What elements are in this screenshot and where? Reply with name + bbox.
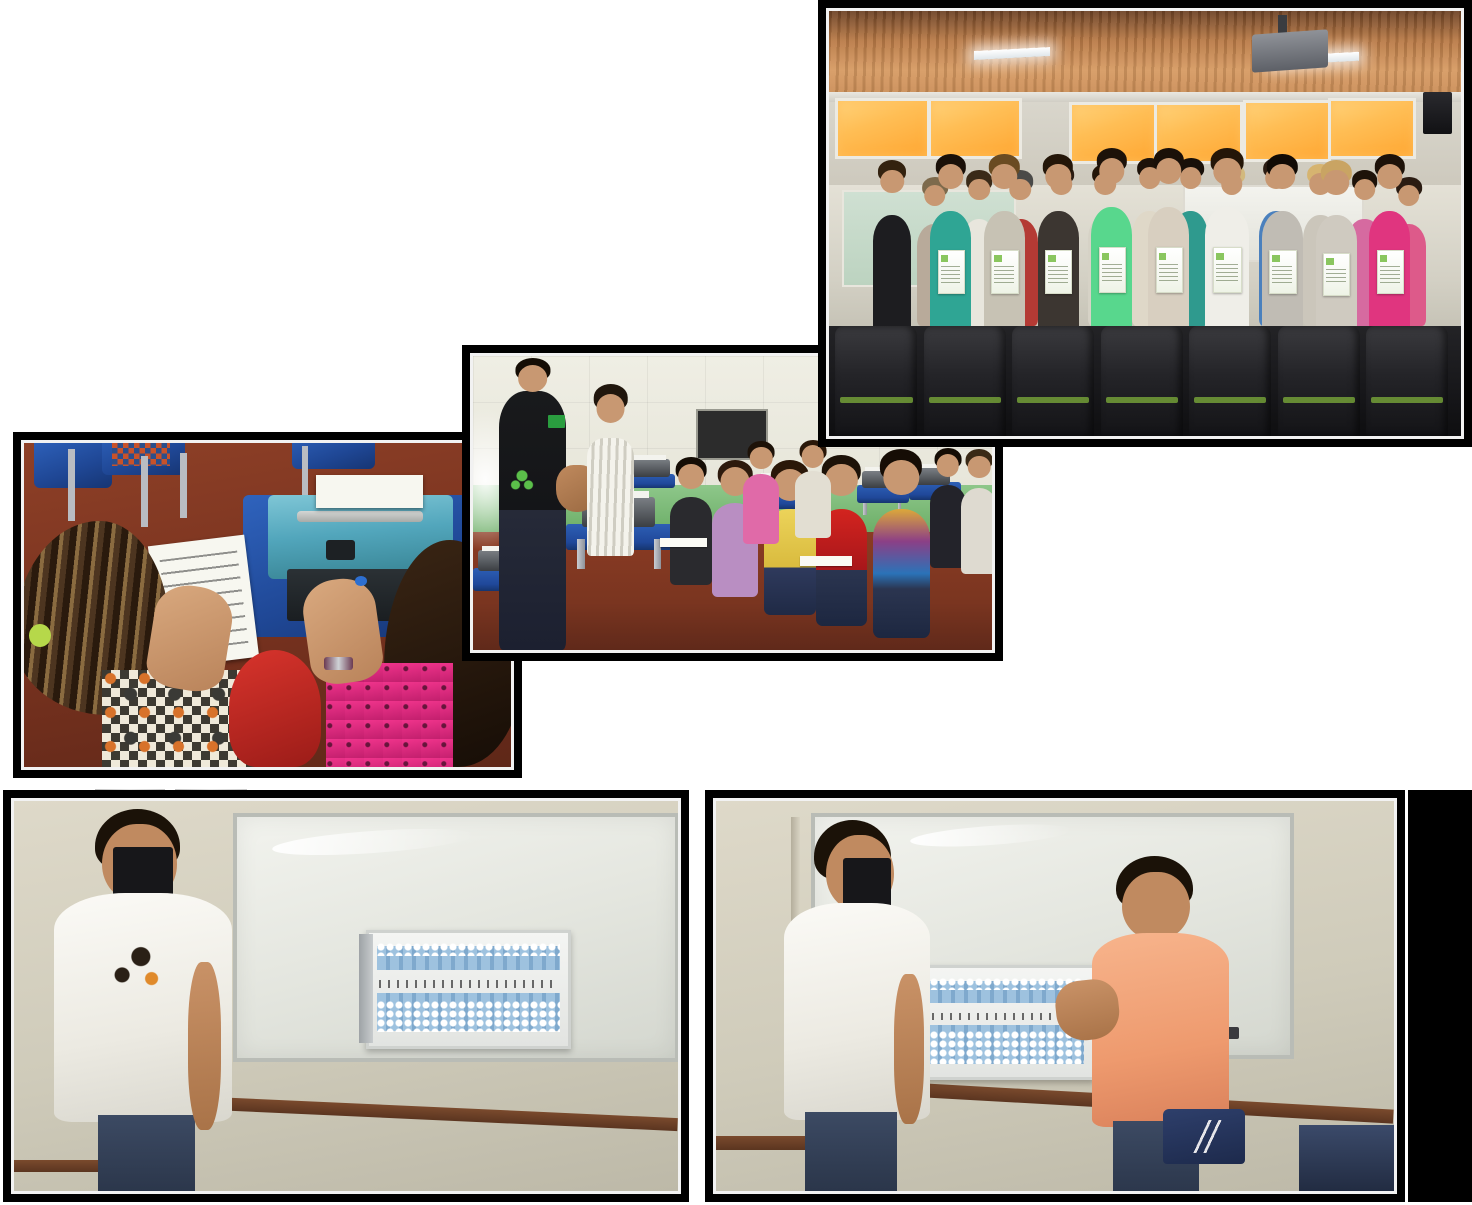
- shirt-green-print: [509, 468, 535, 494]
- person-front-7: [1205, 207, 1249, 335]
- window-6: [1328, 98, 1416, 159]
- photo-frame-inner-line: [21, 440, 514, 770]
- head: [1354, 179, 1376, 201]
- student-6: [743, 474, 779, 545]
- chair-leg: [141, 456, 148, 527]
- photo-students-typing-braille[interactable]: [13, 432, 522, 778]
- head: [1398, 185, 1420, 207]
- head: [518, 365, 548, 392]
- man-striped-shirt: [587, 438, 634, 556]
- chair: [1101, 326, 1183, 437]
- photo-braille-board-demo-single[interactable]: [3, 790, 689, 1202]
- photo-frame-inner-line: [11, 798, 681, 1194]
- braille-board-side-edge: [359, 934, 372, 1043]
- certificate: [1099, 247, 1126, 292]
- chair-leg: [68, 449, 75, 520]
- chair: [1278, 326, 1360, 437]
- person-front-4: [1038, 211, 1079, 334]
- person-with-sunglasses: [54, 809, 240, 1191]
- ceiling-projector: [1252, 30, 1328, 74]
- head: [1122, 872, 1191, 939]
- certificate: [1213, 247, 1242, 292]
- blue-jeans: [98, 1115, 195, 1191]
- head: [596, 394, 625, 423]
- desk-leg: [863, 503, 867, 516]
- whiteboard-glare: [272, 824, 475, 860]
- braille-writer-carriage-handle: [326, 540, 355, 559]
- ceiling: [829, 11, 1461, 96]
- person-front-8: [1262, 211, 1303, 334]
- hair-clip: [29, 624, 51, 647]
- camel-graphic-print: [102, 931, 169, 992]
- head: [968, 179, 990, 201]
- peach-shirt: [1092, 933, 1229, 1128]
- chair-leg: [180, 453, 187, 518]
- instructor: [499, 391, 566, 650]
- blue-jeans: [805, 1112, 897, 1191]
- photo-image-students-typing-braille: [24, 443, 511, 767]
- chair: [1012, 326, 1094, 437]
- certificate: [1377, 250, 1404, 294]
- brazil-flag-patch: [548, 415, 565, 428]
- blue-bag: [1163, 1109, 1244, 1164]
- head: [678, 464, 704, 490]
- student-7: [795, 471, 831, 539]
- chair: [835, 326, 917, 437]
- person-front-6: [1148, 207, 1189, 335]
- photo-frame-inner-line: [826, 8, 1464, 439]
- chair: [924, 326, 1006, 437]
- dark-table: [1299, 1125, 1394, 1191]
- braille-writer-paper: [316, 475, 423, 507]
- head: [802, 445, 825, 468]
- chair-rows: [829, 326, 1461, 437]
- paper-sheet: [660, 538, 707, 547]
- black-filler-block: [1408, 790, 1472, 1202]
- certificate: [1269, 250, 1296, 294]
- head: [880, 170, 904, 194]
- braille-board-dots-bottom: [377, 1001, 560, 1033]
- student-9: [961, 488, 992, 573]
- certificate: [938, 250, 965, 294]
- photo-group-certificates[interactable]: [818, 0, 1472, 447]
- desk-leg: [577, 539, 585, 568]
- window-1: [835, 98, 929, 159]
- photo-frame-inner-line: [713, 798, 1397, 1194]
- chair: [1189, 326, 1271, 437]
- photo-image-braille-board-demo-pair: [716, 801, 1394, 1191]
- window-5: [1243, 100, 1331, 161]
- braille-teaching-board: [366, 930, 571, 1049]
- person-front-1: [873, 215, 911, 334]
- certificate: [1045, 250, 1072, 294]
- certificate: [1323, 253, 1350, 295]
- window-2: [928, 98, 1022, 159]
- wall-speaker: [1423, 92, 1451, 135]
- person-front-9: [1316, 215, 1357, 334]
- person-left-with-sunglasses: [784, 817, 933, 1191]
- chair: [1366, 326, 1448, 437]
- wristwatch: [324, 657, 353, 670]
- person-front-3: [984, 211, 1025, 334]
- person-front-5: [1091, 207, 1132, 335]
- paper-sheet: [800, 556, 852, 566]
- head: [1180, 167, 1202, 189]
- head: [750, 447, 773, 470]
- person-front-2: [930, 211, 971, 334]
- braille-board-label-strip: [379, 980, 558, 988]
- certificate: [991, 250, 1018, 294]
- photo-image-braille-board-demo-single: [14, 801, 678, 1191]
- braille-writer-roller: [297, 511, 424, 522]
- photo-collage: [0, 0, 1472, 1205]
- red-chair-back: [229, 650, 322, 767]
- head: [924, 185, 946, 207]
- head: [937, 454, 960, 477]
- photo-braille-board-demo-pair[interactable]: [705, 790, 1405, 1202]
- chair-leg: [302, 446, 309, 498]
- certificate: [1156, 247, 1183, 292]
- whiteboard-glare: [909, 821, 1071, 851]
- arm: [188, 962, 221, 1130]
- person-front-10: [1369, 211, 1410, 334]
- arm: [894, 974, 924, 1124]
- fingernail-blue: [355, 576, 367, 586]
- braille-board-dots-top: [377, 943, 560, 957]
- photo-image-group-certificates: [829, 11, 1461, 436]
- student-5: [873, 509, 930, 638]
- head: [968, 456, 991, 479]
